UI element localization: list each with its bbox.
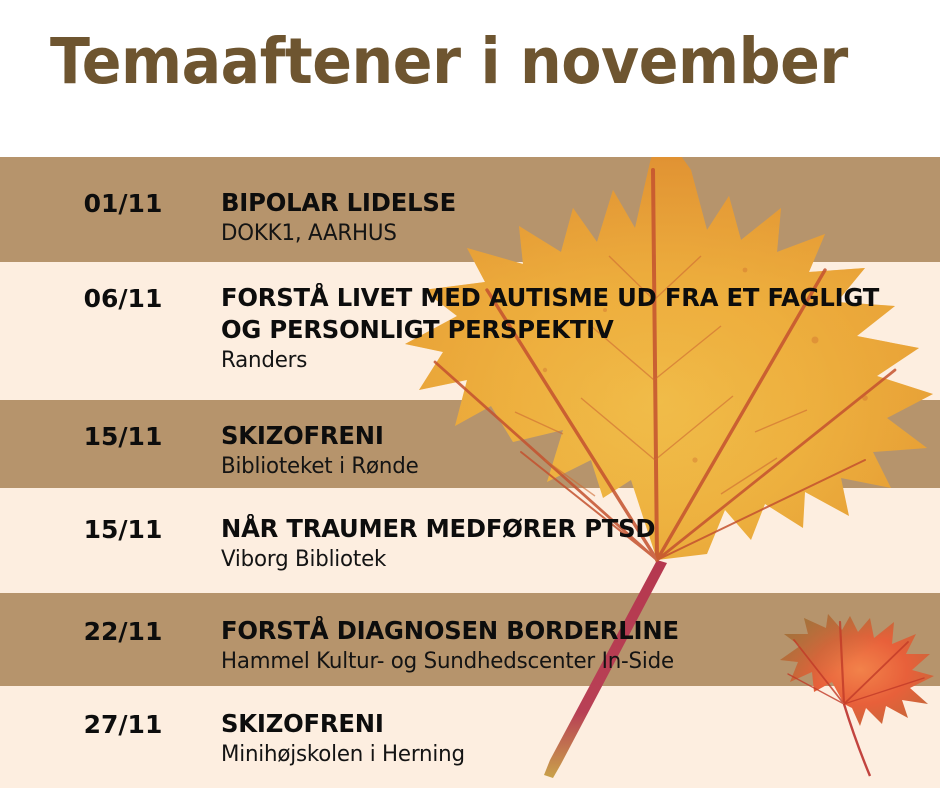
event-venue: Randers bbox=[221, 347, 900, 375]
event-title: SKIZOFRENI bbox=[221, 420, 900, 452]
event-row[interactable]: 01/11BIPOLAR LIDELSEDOKK1, AARHUS bbox=[0, 157, 940, 262]
event-title: FORSTÅ LIVET MED AUTISME UD FRA ET FAGLI… bbox=[221, 282, 900, 346]
event-body: FORSTÅ DIAGNOSEN BORDERLINEHammel Kultur… bbox=[221, 615, 921, 676]
event-venue: DOKK1, AARHUS bbox=[221, 220, 900, 248]
event-date: 15/11 bbox=[58, 422, 188, 451]
event-date: 27/11 bbox=[58, 710, 188, 739]
event-body: BIPOLAR LIDELSEDOKK1, AARHUS bbox=[221, 187, 921, 248]
event-title: FORSTÅ DIAGNOSEN BORDERLINE bbox=[221, 615, 900, 647]
event-row[interactable]: 15/11NÅR TRAUMER MEDFØRER PTSDViborg Bib… bbox=[0, 488, 940, 593]
event-body: NÅR TRAUMER MEDFØRER PTSDViborg Bibliote… bbox=[221, 513, 921, 574]
event-date: 06/11 bbox=[58, 284, 188, 313]
page-title: Temaaftener i november bbox=[50, 26, 848, 98]
title-band: Temaaftener i november bbox=[0, 0, 940, 157]
event-title: BIPOLAR LIDELSE bbox=[221, 187, 900, 219]
event-venue: Biblioteket i Rønde bbox=[221, 453, 900, 481]
poster-canvas: Temaaftener i november 01/11BIPOLAR LIDE… bbox=[0, 0, 940, 788]
event-title: SKIZOFRENI bbox=[221, 708, 900, 740]
event-body: SKIZOFRENIBiblioteket i Rønde bbox=[221, 420, 921, 481]
event-title: NÅR TRAUMER MEDFØRER PTSD bbox=[221, 513, 900, 545]
event-row[interactable]: 15/11SKIZOFRENIBiblioteket i Rønde bbox=[0, 400, 940, 488]
event-row[interactable]: 22/11FORSTÅ DIAGNOSEN BORDERLINEHammel K… bbox=[0, 593, 940, 686]
event-venue: Minihøjskolen i Herning bbox=[221, 741, 900, 769]
event-body: FORSTÅ LIVET MED AUTISME UD FRA ET FAGLI… bbox=[221, 282, 921, 375]
event-body: SKIZOFRENIMinihøjskolen i Herning bbox=[221, 708, 921, 769]
event-date: 22/11 bbox=[58, 617, 188, 646]
event-row[interactable]: 27/11SKIZOFRENIMinihøjskolen i Herning bbox=[0, 686, 940, 788]
event-venue: Viborg Bibliotek bbox=[221, 546, 900, 574]
event-venue: Hammel Kultur- og Sundhedscenter In-Side bbox=[221, 648, 900, 676]
event-date: 15/11 bbox=[58, 515, 188, 544]
event-row[interactable]: 06/11FORSTÅ LIVET MED AUTISME UD FRA ET … bbox=[0, 262, 940, 400]
event-date: 01/11 bbox=[58, 189, 188, 218]
